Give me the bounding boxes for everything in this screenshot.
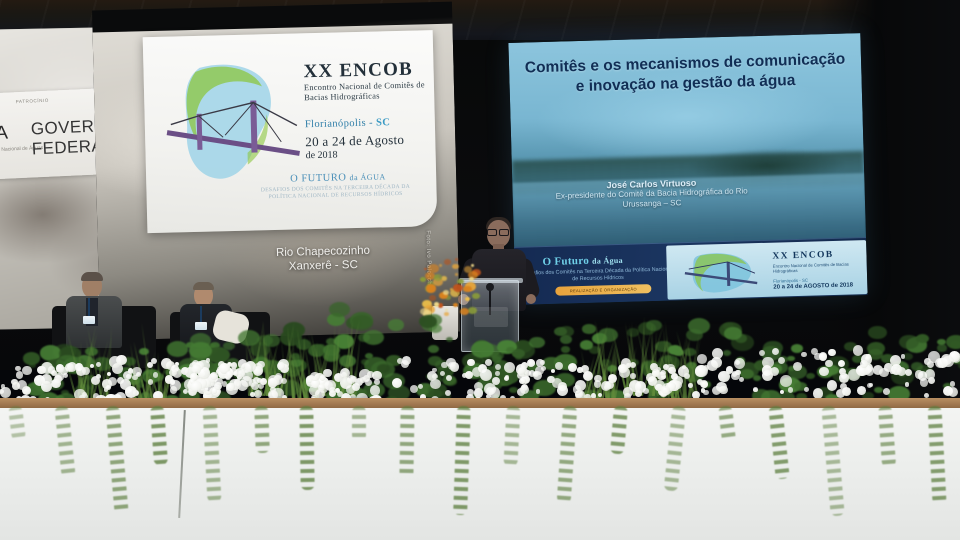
footer-encob-subtitle: Encontro Nacional de Comitês de Bacias H… xyxy=(773,261,853,273)
river-caption: Rio Chapecozinho Xanxerê - SC xyxy=(238,243,409,275)
slide-footer-pill-label: REALIZAÇÃO E ORGANIZAÇÃO xyxy=(555,284,651,296)
encob-title: XX ENCOB xyxy=(303,59,413,84)
slide-footer-pill: REALIZAÇÃO E ORGANIZAÇÃO xyxy=(555,284,651,296)
projection-screen: Comitês e os mecanismos de comunicação e… xyxy=(508,33,867,305)
encob-date-line2: de 2018 xyxy=(306,149,338,161)
encob-theme-subtitle: DESAFIOS DOS COMITÊS NA TERCEIRA DÉCADA … xyxy=(246,183,424,201)
encob-date-line1: 20 a 24 de Agosto xyxy=(305,132,404,150)
slide-footer-logo: XX ENCOB Encontro Nacional de Comitês de… xyxy=(666,240,867,300)
encob-city: Florianópolis - SC xyxy=(305,117,391,130)
stage-front-panel xyxy=(0,408,960,540)
footer-encob-date: 20 a 24 de AGOSTO de 2018 xyxy=(773,282,853,290)
encob-theme-small: da ÁGUA xyxy=(349,172,385,182)
encob-subtitle: Encontro Nacional de Comitês de Bacias H… xyxy=(304,80,434,102)
panelist-left-hair xyxy=(81,272,103,281)
footer-watershed-bridge-graphic xyxy=(682,249,761,295)
panelist-right-hair xyxy=(193,282,214,290)
sponsor-kicker: PATROCÍNIO xyxy=(16,98,50,105)
slide-footer-theme-small: da Água xyxy=(592,256,623,266)
bridge-graphic xyxy=(162,85,304,176)
glasses-icon xyxy=(487,229,509,234)
footer-encob-title: XX ENCOB xyxy=(772,250,833,262)
footer-encob-city: Florianópolis - SC xyxy=(773,278,808,284)
encob-logo-card: XX ENCOB Encontro Nacional de Comitês de… xyxy=(143,30,438,233)
conference-photo-scene: PATROCÍNIO NA Agência Nacional de Águas … xyxy=(0,0,960,540)
encob-state: SC xyxy=(376,117,390,128)
slide-footer-bar: O Futuro da Água Desafios dos Comitês na… xyxy=(514,237,867,305)
stage-floral-arrangement xyxy=(0,300,960,408)
sponsor-agency-abbrev: NA xyxy=(0,123,9,146)
encob-theme: O FUTURO da ÁGUA xyxy=(290,171,386,184)
